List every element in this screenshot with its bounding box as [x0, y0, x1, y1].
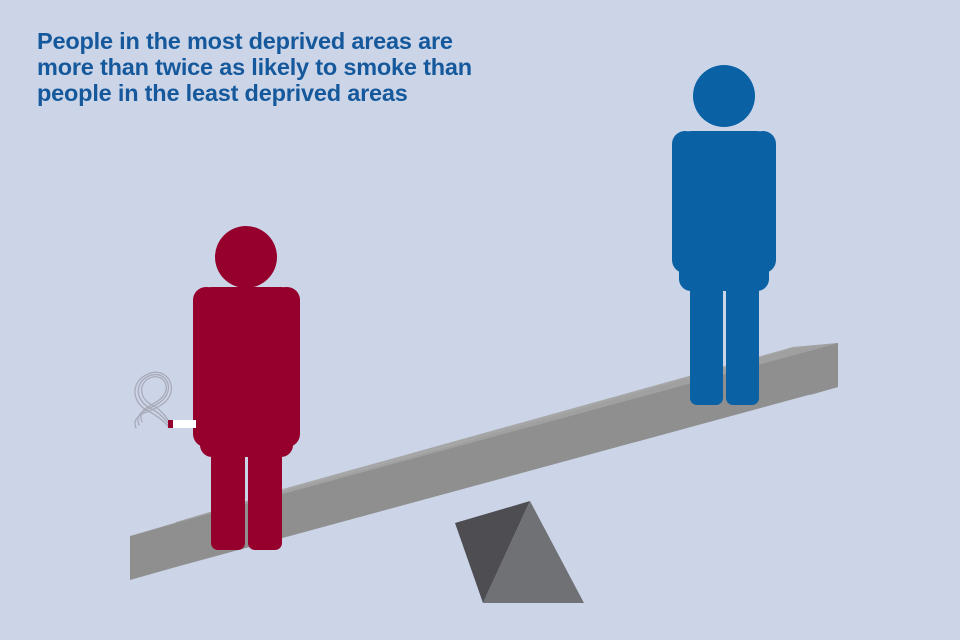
red-figure-right-leg [248, 390, 282, 550]
smoke-strand-2 [138, 375, 169, 425]
smoke-icon [135, 372, 172, 428]
red-figure-head [215, 226, 277, 288]
plank-left-end [130, 523, 176, 580]
blue-figure-right-leg [726, 230, 759, 405]
cigarette-group [135, 372, 196, 428]
blue-figure-head [693, 65, 755, 127]
seesaw-fulcrum [455, 501, 584, 603]
red-figure-left-leg [211, 390, 245, 550]
plank-right-end [810, 343, 838, 395]
infographic-canvas: People in the most deprived areas are mo… [0, 0, 960, 640]
cigarette-body [172, 420, 196, 428]
figure-least-deprived [672, 65, 776, 405]
blue-figure-left-leg [690, 230, 723, 405]
cigarette-tip [168, 420, 173, 428]
headline-text: People in the most deprived areas are mo… [37, 28, 557, 106]
